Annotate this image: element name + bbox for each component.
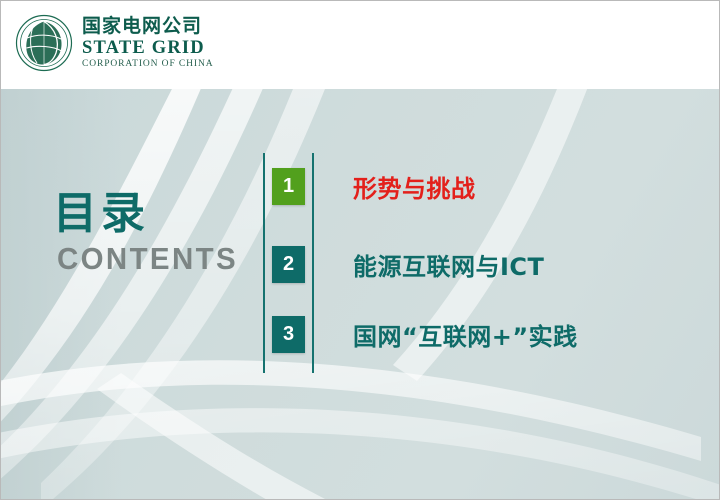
contents-item-1[interactable]: 1 形势与挑战	[272, 166, 476, 206]
toc-rule-left	[263, 153, 265, 373]
background-arc-graphic	[1, 89, 720, 499]
slide-canvas: 目录 CONTENTS 1 形势与挑战 2 能源互联网与ICT 3 国网“互联网…	[0, 0, 720, 500]
globe-icon	[15, 14, 73, 72]
page-title-cn: 目录	[53, 191, 248, 237]
brand-logo: 国家电网公司 STATE GRID CORPORATION OF CHINA	[15, 14, 214, 72]
page-title-en: CONTENTS	[57, 243, 238, 276]
contents-item-3[interactable]: 3 国网“互联网+”实践	[272, 314, 578, 354]
contents-item-3-label: 国网“互联网+”实践	[353, 317, 578, 352]
state-grid-globe-logo	[15, 14, 73, 72]
contents-title: 目录 CONTENTS	[53, 191, 248, 276]
contents-item-3-number: 3	[272, 316, 305, 353]
contents-item-2-number: 2	[272, 246, 305, 283]
contents-item-2[interactable]: 2 能源互联网与ICT	[272, 244, 544, 284]
contents-item-1-number: 1	[272, 168, 305, 205]
slide-background	[1, 89, 720, 499]
header-band: 国家电网公司 STATE GRID CORPORATION OF CHINA	[1, 1, 720, 89]
brand-name-en: STATE GRID	[82, 39, 214, 58]
brand-name-subtitle: CORPORATION OF CHINA	[82, 60, 214, 70]
brand-name-cn: 国家电网公司	[82, 17, 214, 36]
contents-item-2-label: 能源互联网与ICT	[353, 247, 544, 282]
brand-logo-text: 国家电网公司 STATE GRID CORPORATION OF CHINA	[82, 17, 214, 70]
contents-item-1-label: 形势与挑战	[353, 169, 476, 204]
